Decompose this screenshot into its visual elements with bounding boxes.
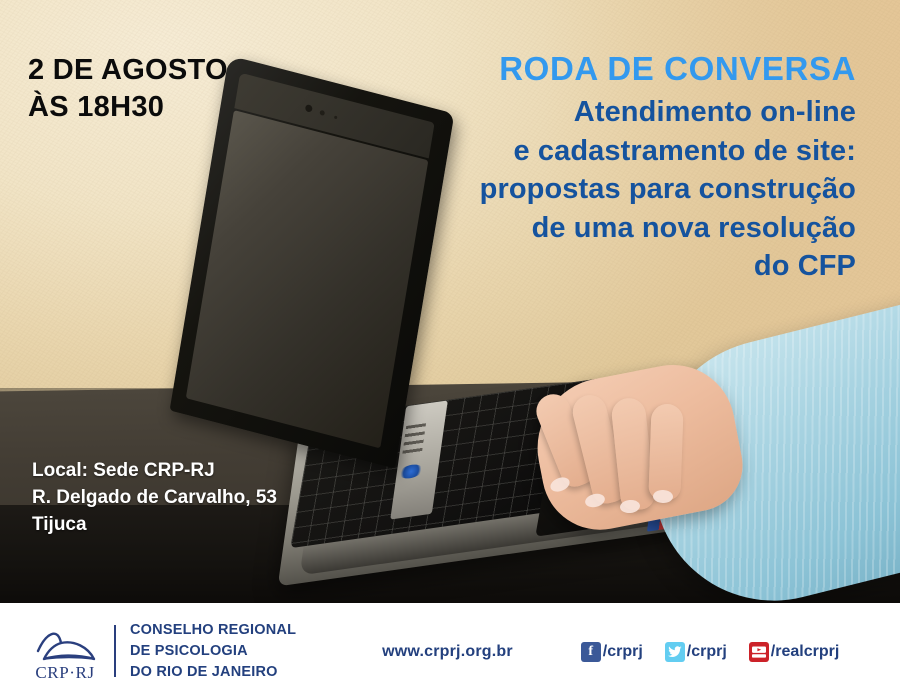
council-name: CONSELHO REGIONAL DE PSICOLOGIA DO RIO D… <box>130 620 296 683</box>
poster: 2 DE AGOSTO ÀS 18H30 RODA DE CONVERSA At… <box>0 0 900 700</box>
footer-bar: CRP·RJ CONSELHO REGIONAL DE PSICOLOGIA D… <box>0 603 900 700</box>
crp-rj-initials: CRP·RJ <box>28 663 102 683</box>
facebook-handle: /crprj <box>603 643 643 661</box>
youtube-handle: /realcrprj <box>771 643 839 661</box>
crp-rj-logo[interactable]: CRP·RJ CONSELHO REGIONAL DE PSICOLOGIA D… <box>28 620 296 683</box>
finger-4 <box>648 403 683 500</box>
headline-subtitle: Atendimento on-line e cadastramento de s… <box>336 93 856 286</box>
headline-kicker: RODA DE CONVERSA <box>336 50 856 89</box>
event-location: Local: Sede CRP-RJ R. Delgado de Carvalh… <box>32 458 277 539</box>
photo-background: 2 DE AGOSTO ÀS 18H30 RODA DE CONVERSA At… <box>0 0 900 603</box>
facebook-link[interactable]: f /crprj <box>581 642 643 662</box>
twitter-handle: /crprj <box>687 643 727 661</box>
social-links: f /crprj /crprj <box>581 642 840 662</box>
event-date: 2 DE AGOSTO ÀS 18H30 <box>28 52 228 126</box>
twitter-link[interactable]: /crprj <box>665 642 727 662</box>
youtube-link[interactable]: /realcrprj <box>749 642 839 662</box>
crp-rj-logo-mark-icon: CRP·RJ <box>28 621 102 681</box>
twitter-icon <box>665 642 685 662</box>
headline-block: RODA DE CONVERSA Atendimento on-line e c… <box>336 50 856 286</box>
logo-divider <box>114 625 116 677</box>
facebook-icon: f <box>581 642 601 662</box>
youtube-icon <box>749 642 769 662</box>
website-url[interactable]: www.crprj.org.br <box>382 643 513 661</box>
